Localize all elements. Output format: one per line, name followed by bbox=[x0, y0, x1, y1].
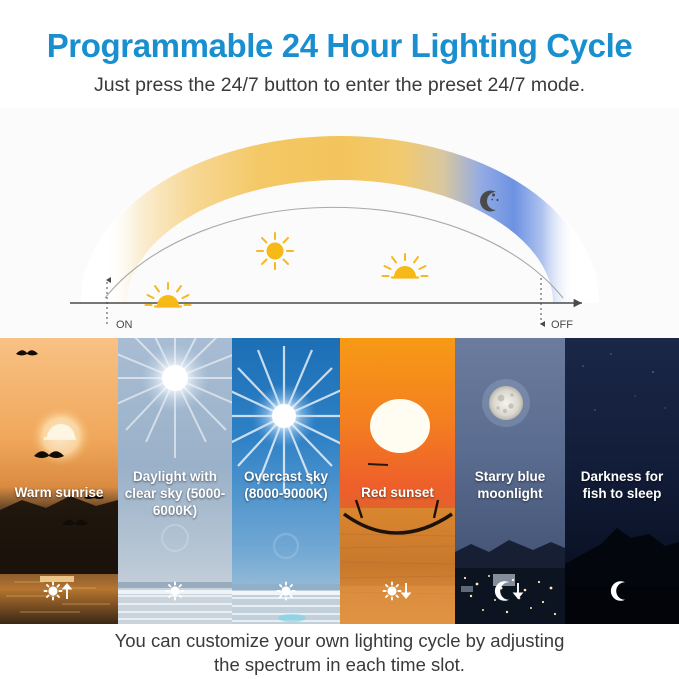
page-subtitle: Just press the 24/7 button to enter the … bbox=[0, 72, 679, 98]
panel-caption: Starry blue moonlight bbox=[455, 468, 565, 502]
sun-icon bbox=[118, 580, 232, 602]
sun-down-icon bbox=[340, 580, 455, 602]
sun-up-icon bbox=[0, 580, 118, 602]
panel-daylight-clear-sky[interactable]: Daylight with clear sky (5000-6000K) bbox=[118, 338, 232, 624]
panel-caption: Warm sunrise bbox=[0, 484, 118, 501]
time-slot-strip: Warm sunrise bbox=[0, 338, 679, 624]
panel-caption: Darkness for fish to sleep bbox=[565, 468, 679, 502]
header: Programmable 24 Hour Lighting Cycle Just… bbox=[0, 0, 679, 110]
footer-line-2: the spectrum in each time slot. bbox=[0, 652, 679, 677]
panel-warm-sunrise[interactable]: Warm sunrise bbox=[0, 338, 118, 624]
moon-icon bbox=[565, 580, 679, 602]
lighting-cycle-diagram: ON OFF bbox=[0, 108, 679, 338]
sunset-icon bbox=[383, 254, 428, 278]
on-label: ON bbox=[116, 319, 133, 331]
sun-noon-icon bbox=[257, 233, 293, 269]
page-title: Programmable 24 Hour Lighting Cycle bbox=[0, 26, 679, 66]
panel-starry-blue-moonlight[interactable]: Starry blue moonlight bbox=[455, 338, 565, 624]
moon-down-icon bbox=[455, 580, 565, 602]
panel-caption: Daylight with clear sky (5000-6000K) bbox=[118, 468, 232, 519]
panel-red-sunset[interactable]: Red sunset bbox=[340, 338, 455, 624]
infographic-page: Programmable 24 Hour Lighting Cycle Just… bbox=[0, 0, 679, 679]
panel-overcast-sky[interactable]: Overcast sky (8000-9000K) bbox=[232, 338, 340, 624]
off-label: OFF bbox=[551, 319, 573, 331]
panel-caption: Overcast sky (8000-9000K) bbox=[232, 468, 340, 502]
panel-caption: Red sunset bbox=[340, 484, 455, 501]
footer-line-1: You can customize your own lighting cycl… bbox=[0, 628, 679, 653]
sun-icon bbox=[232, 580, 340, 602]
spectrum-arc bbox=[105, 158, 575, 303]
panel-darkness-for-fish[interactable]: Darkness for fish to sleep bbox=[565, 338, 679, 624]
footer: You can customize your own lighting cycl… bbox=[0, 624, 679, 679]
